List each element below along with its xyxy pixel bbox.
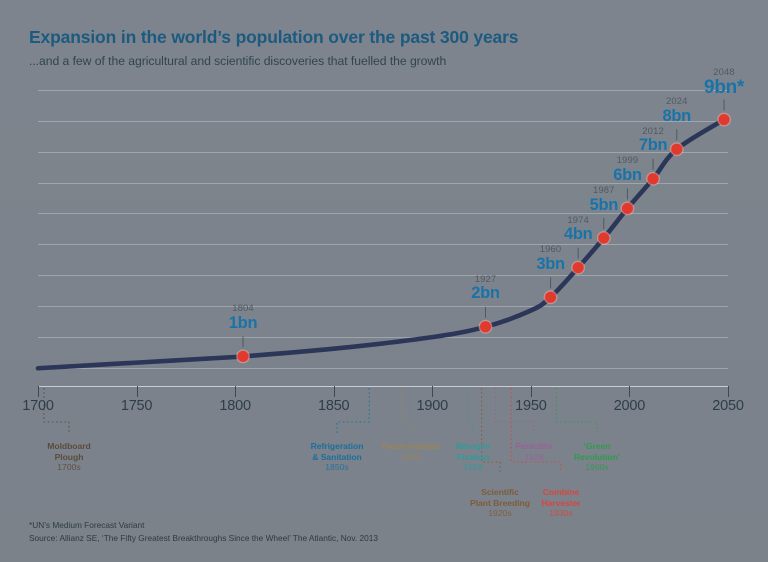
data-point-year: 1999 (567, 156, 687, 166)
data-point-year: 2012 (593, 127, 713, 137)
data-point-value: 2bn (426, 285, 546, 302)
x-axis-tick-label: 2050 (712, 398, 743, 414)
footer: *UN’s Medium Forecast Variant Source: Al… (29, 519, 378, 545)
x-axis-tick-label: 1750 (121, 398, 152, 414)
annotation-year: 1700s (4, 462, 134, 473)
x-axis-tick (728, 386, 729, 397)
x-axis-tick (137, 386, 138, 397)
data-point-label: 19744bn (518, 216, 638, 243)
annotation-label: CombineHarvester1930s (496, 487, 626, 519)
data-point-value: 1bn (183, 315, 303, 332)
data-point-label: 20489bn* (664, 68, 768, 98)
annotation-connector (556, 388, 597, 433)
data-point-year: 1987 (544, 186, 664, 196)
x-axis-tick (334, 386, 335, 397)
x-axis-tick (629, 386, 630, 397)
annotation-label: ‘GreenRevolution’1960s (532, 441, 662, 473)
chart-area: 18041bn19272bn19603bn19744bn19875bn19996… (0, 0, 768, 562)
annotation-year: 1960s (532, 462, 662, 473)
data-point-value: 8bn (617, 108, 737, 125)
x-axis-tick (235, 386, 236, 397)
x-axis-tick (38, 386, 39, 397)
annotation-name: MoldboardPlough (4, 441, 134, 462)
annotation-connector (468, 388, 473, 433)
source-line: Source: Allianz SE, ‘The Fifty Greatest … (29, 532, 378, 545)
data-point-value: 9bn* (664, 78, 768, 97)
annotation-name: ‘GreenRevolution’ (532, 441, 662, 462)
data-point-label: 20127bn (593, 127, 713, 154)
data-point-year: 2024 (617, 97, 737, 107)
data-point-value: 6bn (567, 167, 687, 184)
data-point-label: 19996bn (567, 156, 687, 183)
data-point-value: 3bn (491, 256, 611, 273)
annotation-label: MoldboardPlough1700s (4, 441, 134, 473)
annotation-year: 1930s (496, 508, 626, 519)
x-axis-tick-label: 1800 (219, 398, 250, 414)
data-point-year: 1804 (183, 304, 303, 314)
annotation-year: 1850s (272, 462, 402, 473)
x-axis-tick (531, 386, 532, 397)
x-axis-tick-label: 1700 (22, 398, 53, 414)
x-axis-line (38, 386, 728, 387)
footnote: *UN’s Medium Forecast Variant (29, 519, 378, 532)
x-axis-tick-label: 1850 (318, 398, 349, 414)
data-point-marker[interactable] (544, 291, 556, 303)
data-point-marker[interactable] (479, 321, 491, 333)
data-point-marker[interactable] (237, 350, 249, 362)
data-point-year: 1974 (518, 216, 638, 226)
data-point-year: 1927 (426, 275, 546, 285)
data-point-value: 5bn (544, 197, 664, 214)
x-axis-tick-label: 2000 (614, 398, 645, 414)
data-point-value: 7bn (593, 137, 713, 154)
data-point-label: 19875bn (544, 186, 664, 213)
x-axis-tick (432, 386, 433, 397)
data-point-label: 19272bn (426, 275, 546, 302)
annotation-year: 1918 (408, 462, 538, 473)
x-axis-tick-label: 1900 (417, 398, 448, 414)
chart-svg (0, 0, 768, 562)
data-point-year: 2048 (664, 68, 768, 78)
data-point-label: 20248bn (617, 97, 737, 124)
data-point-year: 1960 (491, 245, 611, 255)
annotation-connector (401, 388, 411, 433)
data-point-label: 18041bn (183, 304, 303, 331)
annotation-name: CombineHarvester (496, 487, 626, 508)
data-point-value: 4bn (518, 226, 638, 243)
data-point-label: 19603bn (491, 245, 611, 272)
x-axis-tick-label: 1950 (515, 398, 546, 414)
